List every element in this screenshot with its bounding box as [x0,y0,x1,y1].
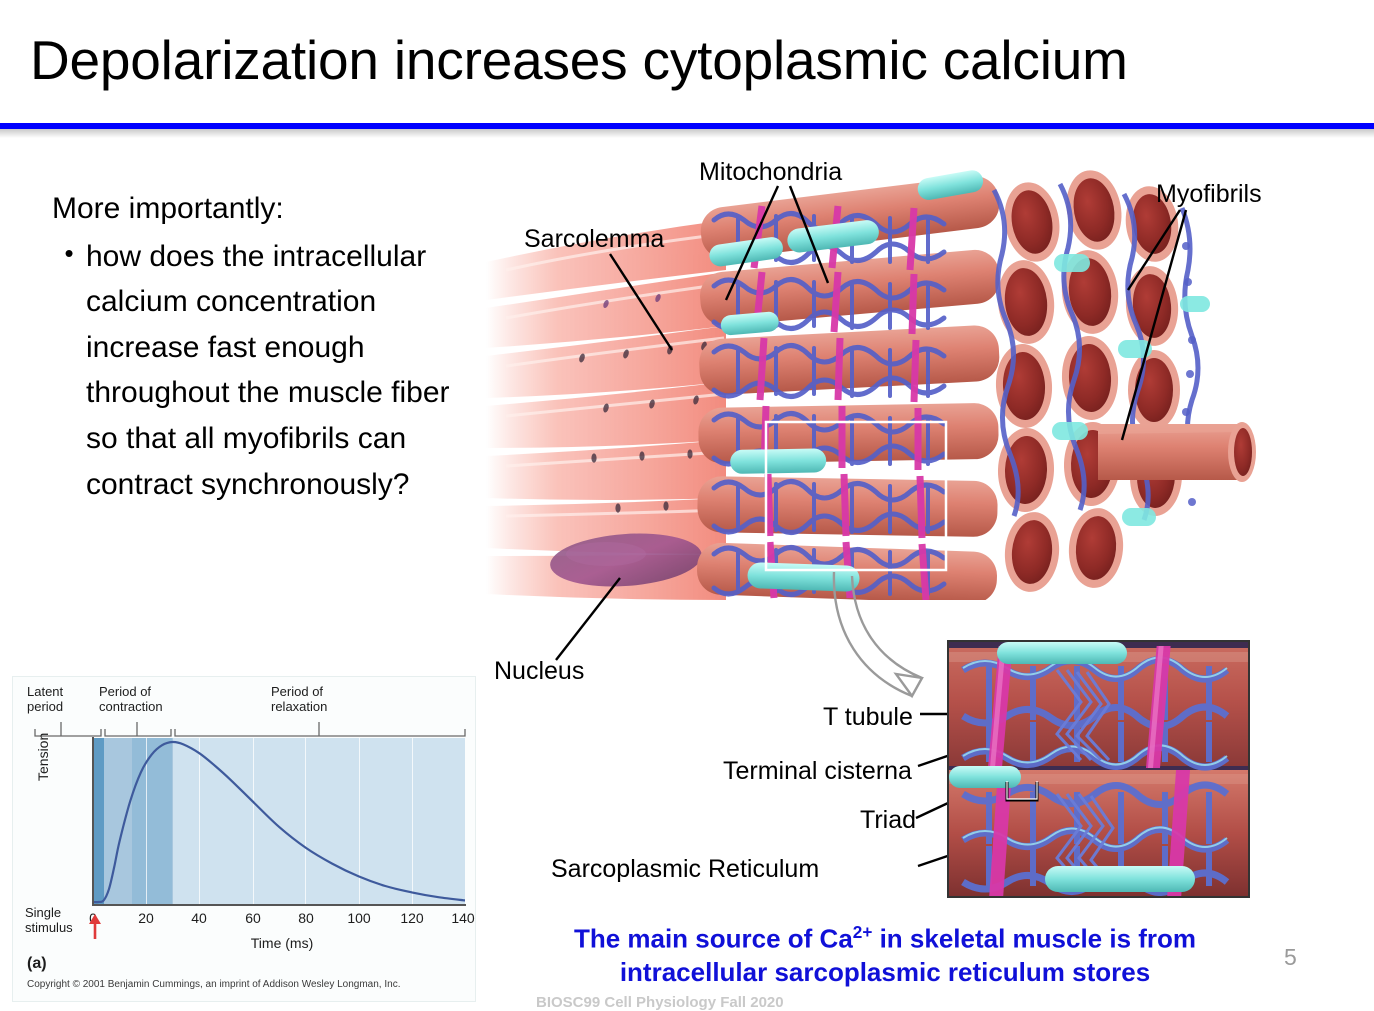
chart-x-tick: 80 [298,910,314,926]
chart-stimulus-label: Single stimulus [25,906,91,936]
caption-line1-pre: The main source of Ca [574,924,853,954]
label-t-tubule: T tubule [823,703,913,732]
bullet-marker: • [52,234,86,274]
chart-tension-curve [93,738,465,904]
label-nucleus: Nucleus [494,657,584,686]
muscle-fiber-graphic [486,150,1304,620]
myofibril-cross-sections [994,166,1210,594]
chart-phase-label-contraction: Period of contraction [99,685,209,715]
muscle-fiber-illustration [486,150,1304,620]
sarcolemma-strands [486,220,726,600]
body-text-block: More importantly: • how does the intrace… [52,186,482,507]
caption-line1-post: in skeletal muscle is from [872,924,1196,954]
triad-closeup-inset [947,640,1250,898]
slide-canvas: Depolarization increases cytoplasmic cal… [0,0,1374,1004]
label-triad: Triad [860,806,916,835]
page-title: Depolarization increases cytoplasmic cal… [30,32,1128,90]
page-number: 5 [1284,944,1297,971]
label-sarcoplasmic-reticulum: Sarcoplasmic Reticulum [551,855,819,884]
lead-line: More importantly: [52,186,482,232]
chart-copyright: Copyright © 2001 Benjamin Cummings, an i… [27,979,400,990]
caption-charge-superscript: 2+ [853,922,873,942]
title-divider-shadow [0,129,1374,138]
muscle-twitch-chart: Latent period Period of contraction Peri… [12,676,476,1002]
myofibril-bundle [696,169,1002,605]
chart-figure-letter: (a) [27,955,47,973]
label-mitochondria: Mitochondria [699,158,842,187]
label-myofibrils: Myofibrils [1156,180,1262,209]
bullet-item: • how does the intracellular calcium con… [52,234,482,508]
protruding-myofibril [1098,422,1256,482]
chart-y-axis [92,737,94,905]
chart-phase-label-relaxation: Period of relaxation [271,685,381,715]
caption-line2: intracellular sarcoplasmic reticulum sto… [620,957,1150,987]
chart-plot-area [93,738,465,904]
chart-x-tick: 140 [451,910,474,926]
summary-caption: The main source of Ca2+ in skeletal musc… [500,922,1270,989]
chart-y-axis-label: Tension [35,733,51,781]
footer-course-note: BIOSC99 Cell Physiology Fall 2020 [536,994,956,1011]
chart-phase-label-latent: Latent period [27,685,89,715]
label-sarcolemma: Sarcolemma [524,225,664,254]
chart-x-tick: 100 [347,910,370,926]
chart-x-tick: 60 [245,910,261,926]
bullet-label: how does the intracellular calcium conce… [86,234,482,508]
triad-closeup-graphic [949,642,1248,896]
chart-x-axis [92,904,466,906]
chart-x-tick: 20 [138,910,154,926]
label-terminal-cisterna: Terminal cisterna [723,757,912,786]
chart-x-tick: 40 [191,910,207,926]
chart-x-axis-label: Time (ms) [13,935,477,951]
chart-x-tick: 120 [400,910,423,926]
stimulus-arrow-icon [87,913,103,939]
